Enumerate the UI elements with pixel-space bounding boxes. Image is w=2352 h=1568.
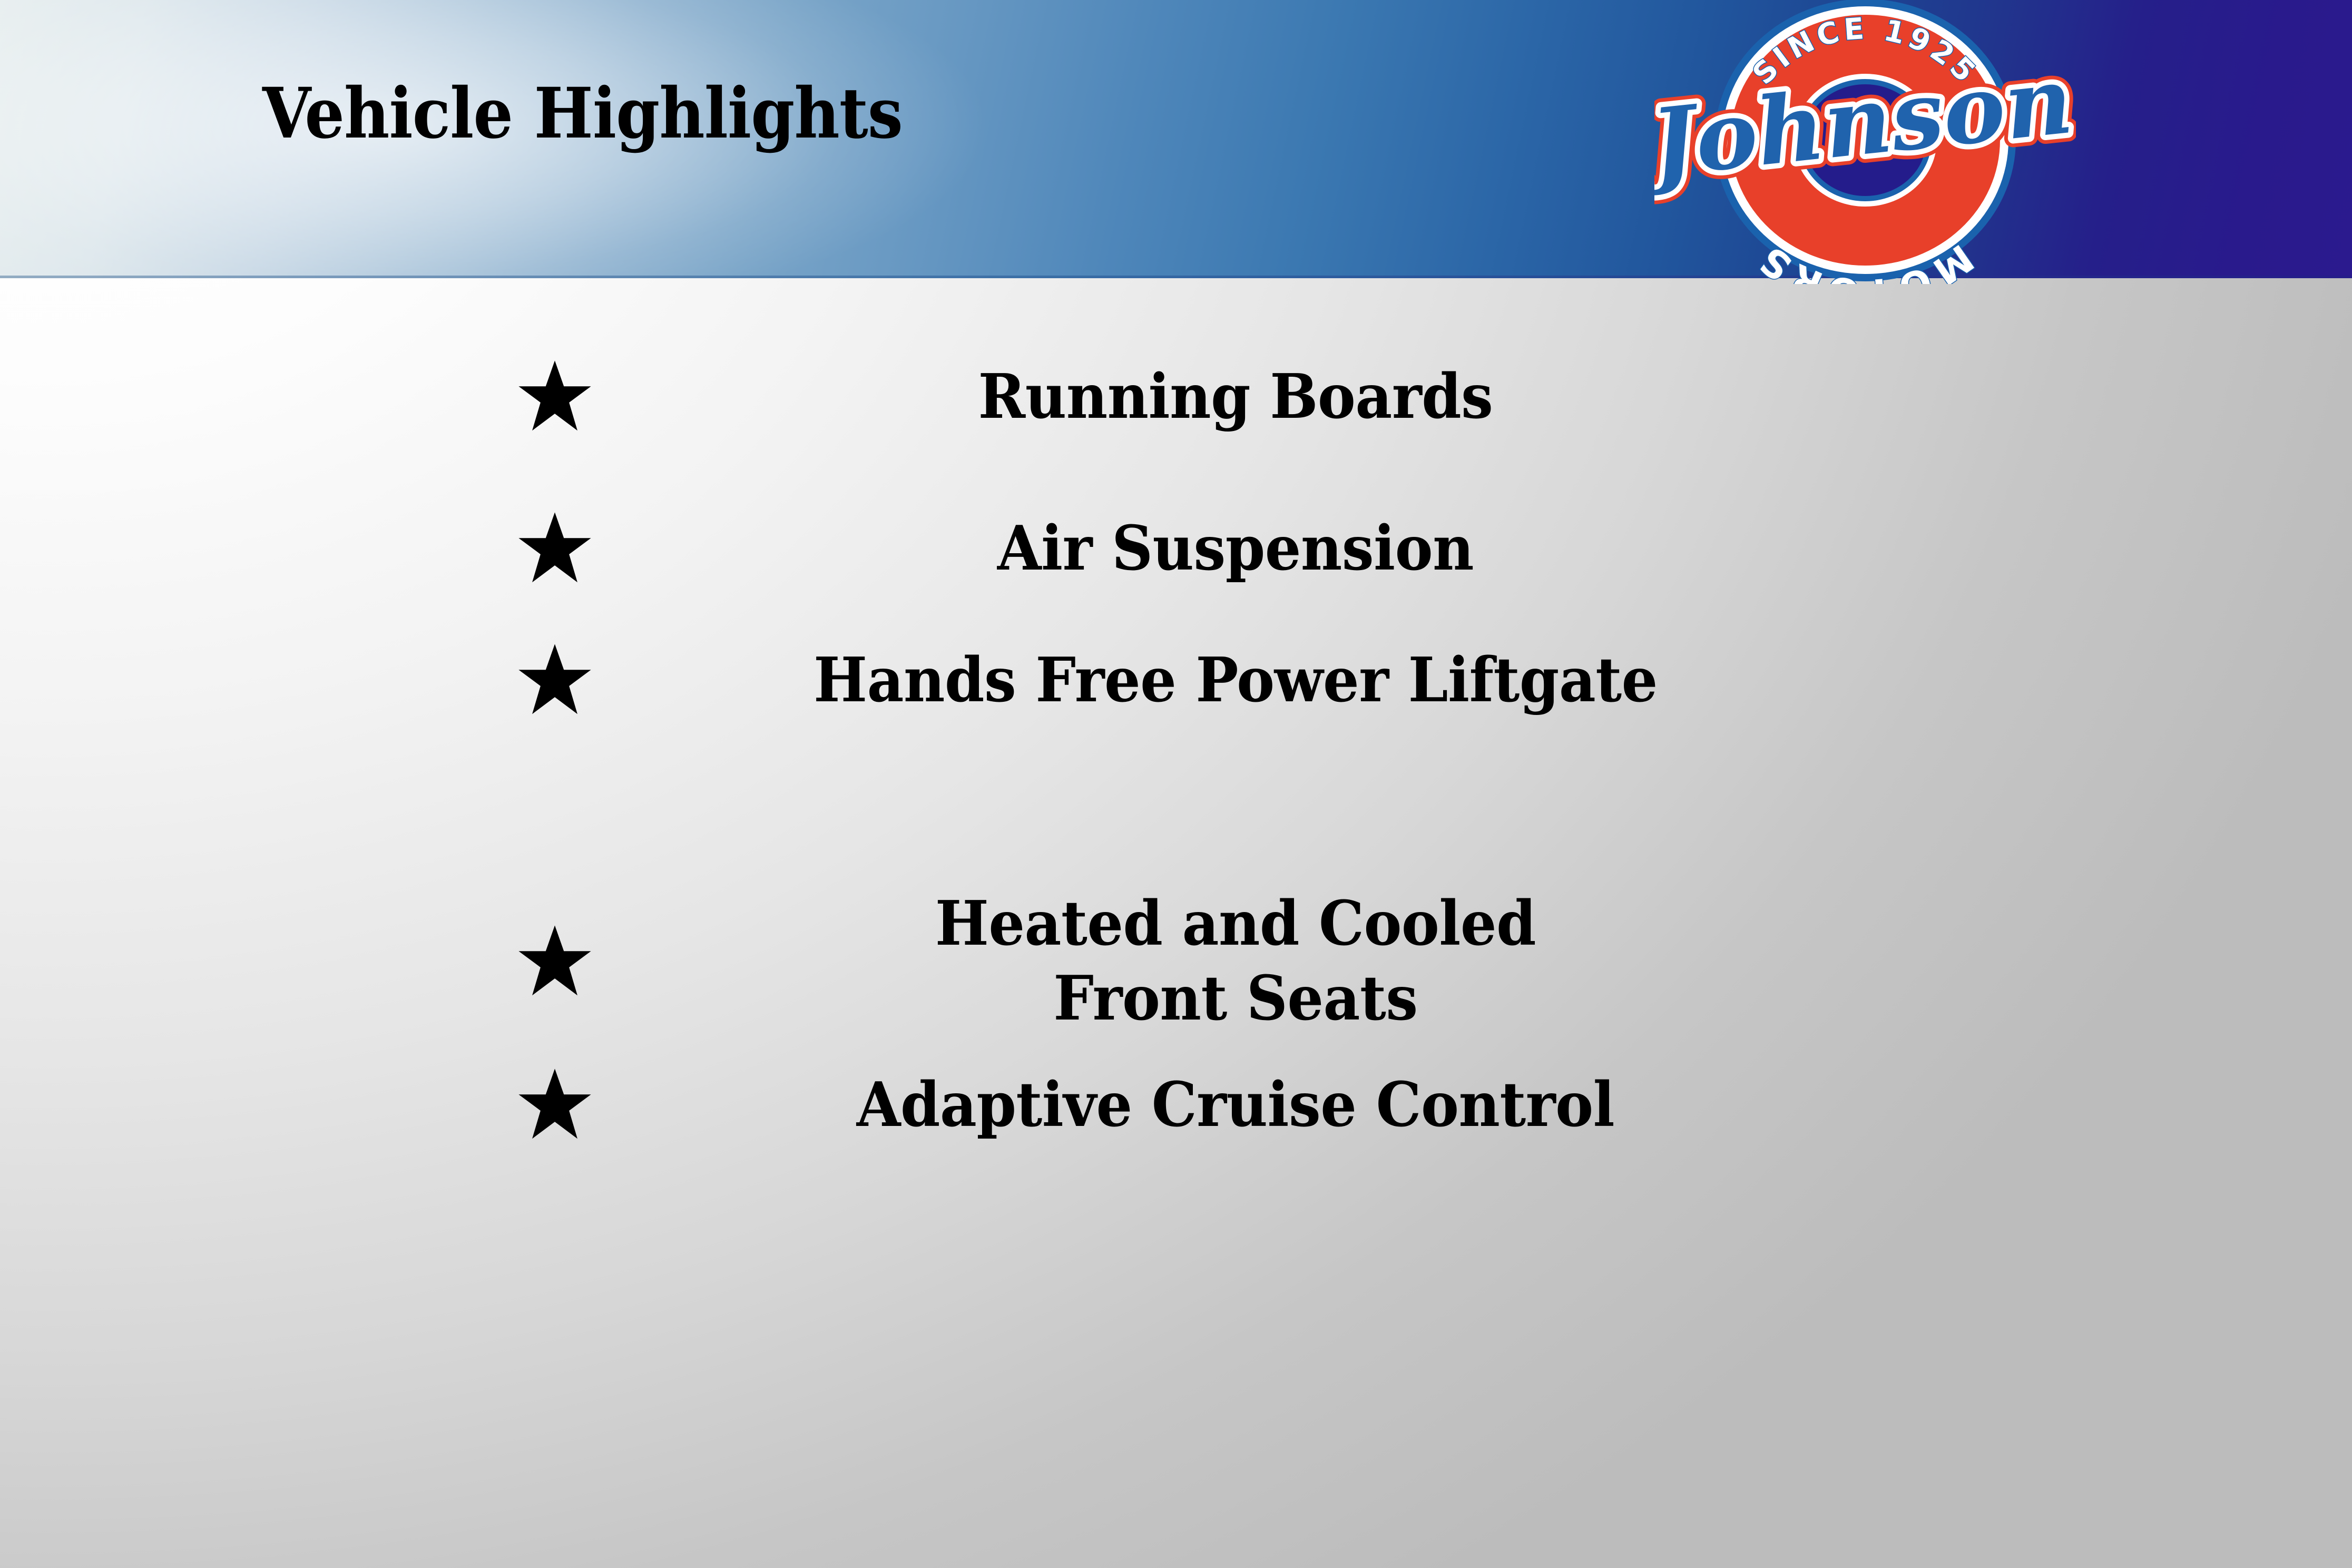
slide: Vehicle Highlights SINCE 1925 xyxy=(0,0,2352,1568)
star-icon xyxy=(516,642,595,719)
page-title: Vehicle Highlights xyxy=(262,76,903,152)
list-item: Running Boards xyxy=(0,336,1876,457)
star-icon xyxy=(516,510,595,587)
highlight-label: Heated and Cooled Front Seats xyxy=(893,887,1579,1036)
highlight-label: Hands Free Power Liftgate xyxy=(640,650,1831,711)
highlight-label: Running Boards xyxy=(640,366,1831,427)
list-item: Adaptive Cruise Control xyxy=(0,1044,1876,1165)
highlight-label: Air Suspension xyxy=(640,518,1831,579)
list-item: Air Suspension xyxy=(0,488,1876,609)
star-icon xyxy=(516,923,595,1000)
johnson-motors-logo: SINCE 1925 MOTORS Johnson Johnson Johnso… xyxy=(1654,0,2076,284)
vehicle-highlights-list: Running Boards Air Suspension Hands Free… xyxy=(0,278,2352,1568)
list-item: Heated and Cooled Front Seats xyxy=(0,885,1876,1038)
highlight-label: Adaptive Cruise Control xyxy=(640,1074,1831,1135)
list-item: Hands Free Power Liftgate xyxy=(0,620,1876,741)
star-icon xyxy=(516,358,595,435)
star-icon xyxy=(516,1066,595,1143)
